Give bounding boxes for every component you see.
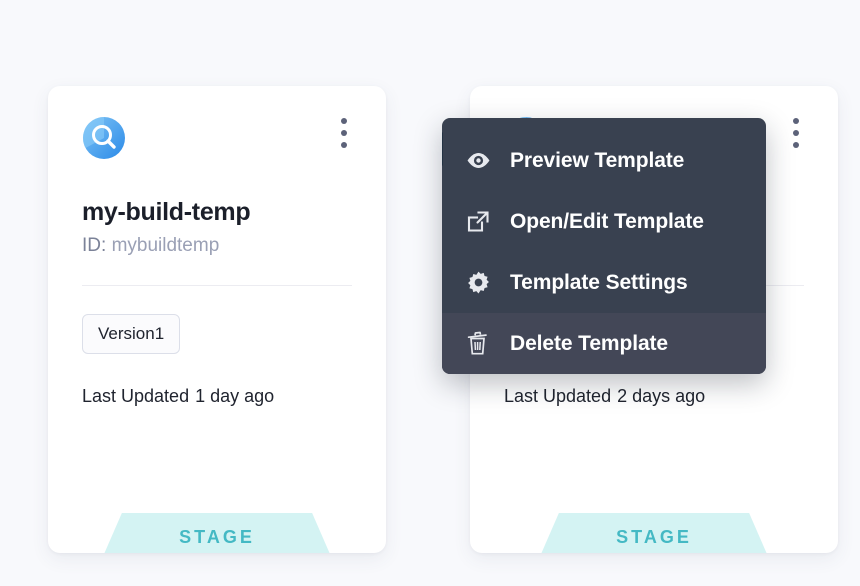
menu-item-label: Delete Template	[510, 332, 668, 356]
menu-caret-icon	[442, 132, 443, 166]
template-title: my-build-temp	[82, 198, 352, 227]
menu-item-open-edit-template[interactable]: Open/Edit Template	[442, 191, 766, 252]
template-id: ID: mybuildtemp	[82, 235, 352, 257]
eye-icon	[466, 152, 496, 169]
menu-item-template-settings[interactable]: Template Settings	[442, 252, 766, 313]
search-circle-logo-icon	[82, 116, 126, 160]
kebab-dot	[793, 142, 799, 148]
version-chip[interactable]: Version1	[82, 314, 180, 354]
last-updated-label: Last Updated	[82, 386, 189, 406]
template-card-left[interactable]: my-build-temp ID: mybuildtemp Version1 L…	[48, 86, 386, 553]
last-updated-value: 2 days ago	[617, 386, 705, 406]
kebab-dot	[793, 118, 799, 124]
menu-item-label: Preview Template	[510, 149, 684, 173]
card-divider	[82, 285, 352, 286]
external-link-icon	[466, 210, 496, 234]
template-context-menu[interactable]: Preview Template Open/Edit Template Temp…	[442, 118, 766, 374]
kebab-dot	[341, 118, 347, 124]
template-id-label: ID:	[82, 235, 106, 256]
stage-badge-label: STAGE	[616, 527, 692, 548]
last-updated: Last Updated1 day ago	[82, 386, 352, 407]
gear-icon	[466, 270, 496, 295]
last-updated-value: 1 day ago	[195, 386, 274, 406]
trash-icon	[466, 331, 496, 356]
kebab-dot	[341, 142, 347, 148]
more-vertical-icon[interactable]	[334, 116, 354, 150]
kebab-dot	[793, 130, 799, 136]
template-id-value: mybuildtemp	[112, 235, 220, 256]
last-updated: Last Updated2 days ago	[504, 386, 804, 407]
last-updated-label: Last Updated	[504, 386, 611, 406]
kebab-dot	[341, 130, 347, 136]
menu-item-preview-template[interactable]: Preview Template	[442, 130, 766, 191]
menu-item-label: Open/Edit Template	[510, 210, 704, 234]
stage-badge-label: STAGE	[179, 527, 255, 548]
stage-badge: STAGE	[538, 513, 770, 553]
menu-item-delete-template[interactable]: Delete Template	[442, 313, 766, 374]
menu-item-label: Template Settings	[510, 271, 688, 295]
stage-badge: STAGE	[101, 513, 333, 553]
more-vertical-icon[interactable]	[786, 116, 806, 150]
